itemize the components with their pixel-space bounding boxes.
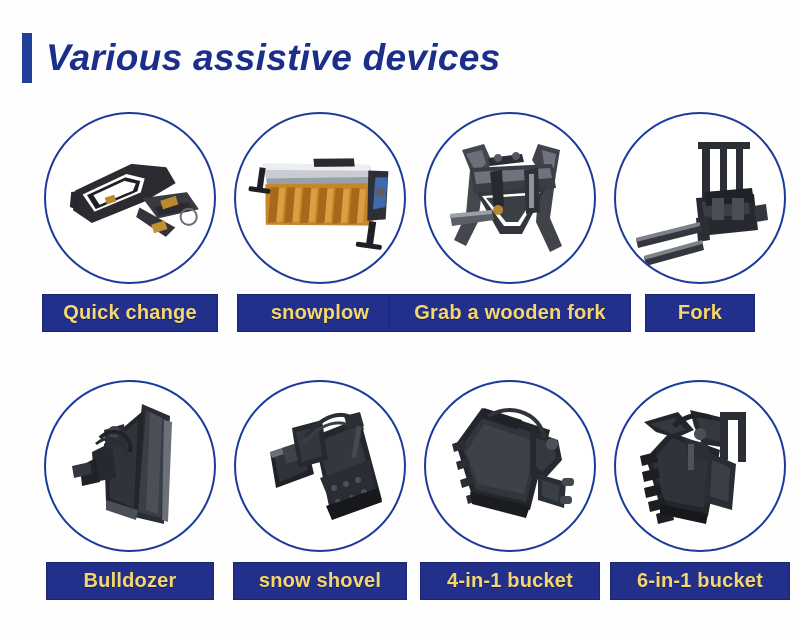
- product-image-frame: [614, 112, 786, 284]
- product-card-6-in-1-bucket[interactable]: 6-in-1 bucket: [605, 376, 795, 622]
- product-label-bar[interactable]: snowplow: [237, 294, 403, 332]
- product-label-bar[interactable]: 6-in-1 bucket: [610, 562, 790, 600]
- product-image-frame: [424, 380, 596, 552]
- page-title: Various assistive devices: [46, 32, 501, 84]
- product-label-bar[interactable]: Quick change: [42, 294, 218, 332]
- product-image-frame: [234, 380, 406, 552]
- product-label: snow shovel: [259, 570, 381, 593]
- log-grapple-icon: [426, 114, 594, 282]
- rotary-broom-icon: [236, 114, 404, 282]
- title-accent-bar: [22, 33, 32, 83]
- page-header: Various assistive devices: [0, 0, 800, 108]
- product-image-frame: [614, 380, 786, 552]
- product-image-frame: [234, 112, 406, 284]
- product-showcase-page: Various assistive devices: [0, 0, 800, 639]
- six-in-one-bucket-icon: [616, 382, 784, 550]
- product-image-frame: [424, 112, 596, 284]
- snow-blade-icon: [236, 382, 404, 550]
- product-label: 6-in-1 bucket: [637, 570, 763, 593]
- product-card-quick-change[interactable]: Quick change: [35, 108, 225, 354]
- product-card-snowplow[interactable]: snowplow: [225, 108, 415, 354]
- product-label-bar[interactable]: 4-in-1 bucket: [420, 562, 600, 600]
- pallet-fork-icon: [616, 114, 784, 282]
- product-label-bar[interactable]: Fork: [645, 294, 755, 332]
- product-image-frame: [44, 380, 216, 552]
- product-label: snowplow: [271, 302, 369, 325]
- product-label: Bulldozer: [84, 570, 177, 593]
- product-label: Quick change: [63, 302, 197, 325]
- product-row-1: Quick change: [0, 108, 800, 354]
- product-row-2: Bulldozer: [0, 376, 800, 622]
- product-label: Grab a wooden fork: [414, 302, 605, 325]
- product-image-frame: [44, 112, 216, 284]
- product-label: Fork: [678, 302, 722, 325]
- product-label-bar[interactable]: Grab a wooden fork: [389, 294, 631, 332]
- product-label: 4-in-1 bucket: [447, 570, 573, 593]
- product-card-fork[interactable]: Fork: [605, 108, 795, 354]
- product-label-bar[interactable]: Bulldozer: [46, 562, 214, 600]
- product-card-snow-shovel[interactable]: snow shovel: [225, 376, 415, 622]
- product-card-bulldozer[interactable]: Bulldozer: [35, 376, 225, 622]
- four-in-one-bucket-icon: [426, 382, 594, 550]
- quick-change-coupler-icon: [46, 114, 214, 282]
- product-card-grab-a-wooden-fork[interactable]: Grab a wooden fork: [415, 108, 605, 354]
- product-label-bar[interactable]: snow shovel: [233, 562, 407, 600]
- dozer-blade-icon: [46, 382, 214, 550]
- product-card-4-in-1-bucket[interactable]: 4-in-1 bucket: [415, 376, 605, 622]
